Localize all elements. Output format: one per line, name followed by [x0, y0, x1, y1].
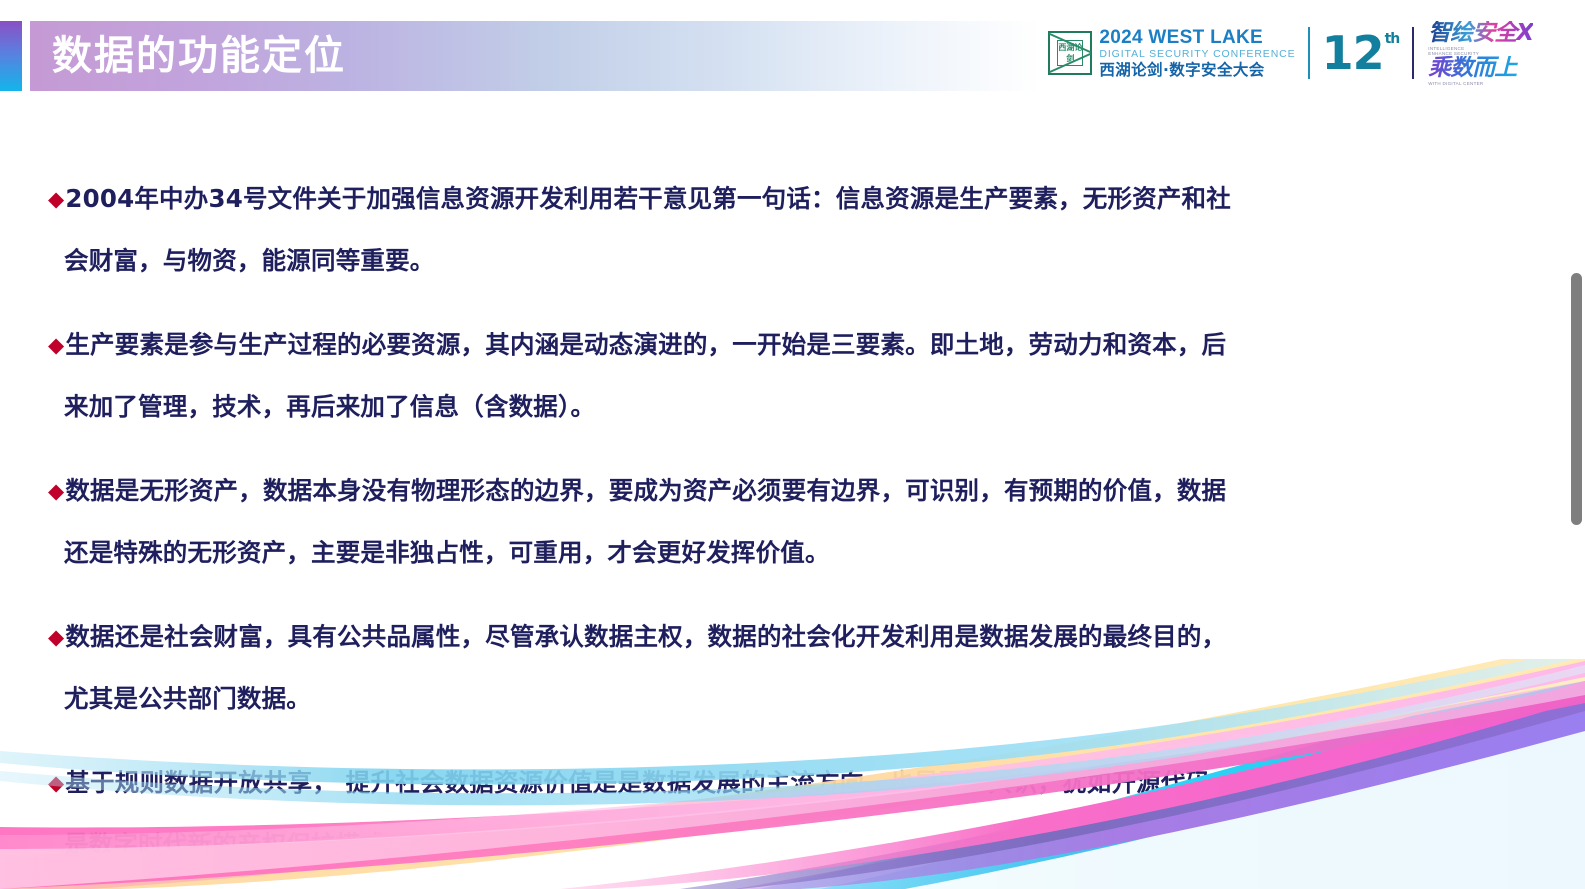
- edition-number: 12: [1322, 30, 1384, 76]
- theme-logo: 智绘安全X INTELLIGENCE ENHANCE SECURITY 乘数而上…: [1428, 21, 1533, 86]
- west-lake-wordmark: 2024 WEST LAKE DIGITAL SECURITY CONFEREN…: [1099, 28, 1295, 79]
- logo-divider-2: [1412, 27, 1414, 79]
- bullet-text-line-1: 基于规则数据开放共享， 提升社会数据资源价值是是数据发展的主流方向，也是国际共识…: [65, 752, 1235, 814]
- edition-suffix: th: [1385, 32, 1400, 46]
- diamond-bullet-icon: ◆: [48, 168, 64, 230]
- bullet-text-line-1: 数据是无形资产，数据本身没有物理形态的边界，要成为资产必须要有边界，可识别，有预…: [65, 460, 1226, 522]
- edition-badge: 12th: [1322, 30, 1399, 76]
- bullet-text-line-2: 尤其是公共部门数据。: [48, 668, 1268, 730]
- diamond-bullet-icon: ◆: [48, 314, 64, 376]
- slide-header: 数据的功能定位 西湖论剑 2024 WEST LAKE DIGITAL SECU…: [0, 0, 1585, 110]
- diamond-bullet-icon: ◆: [48, 606, 64, 668]
- bullet-text-line-2: 来加了管理，技术，再后来加了信息（含数据）。: [48, 376, 1268, 438]
- seal-inner-text: 西湖论剑: [1057, 40, 1083, 66]
- logo-line-3: 西湖论剑·数字安全大会: [1099, 61, 1295, 79]
- logo-line-2: DIGITAL SECURITY CONFERENCE: [1099, 48, 1295, 61]
- scrollbar-thumb[interactable]: [1571, 273, 1582, 525]
- bullet-first-line: ◆ 数据还是社会财富，具有公共品属性，尽管承认数据主权，数据的社会化开发利用是数…: [48, 606, 1268, 668]
- theme-sub-3: WITH DIGITAL CENTER: [1428, 81, 1533, 86]
- bullet-item-3: ◆ 数据是无形资产，数据本身没有物理形态的边界，要成为资产必须要有边界，可识别，…: [48, 460, 1268, 584]
- bullet-first-line: ◆ 2004年中办34号文件关于加强信息资源开发利用若干意见第一句话：信息资源是…: [48, 168, 1268, 230]
- bullet-text-line-2: 还是特殊的无形资产，主要是非独占性，可重用，才会更好发挥价值。: [48, 522, 1268, 584]
- bullet-item-4: ◆ 数据还是社会财富，具有公共品属性，尽管承认数据主权，数据的社会化开发利用是数…: [48, 606, 1268, 730]
- bullet-first-line: ◆ 基于规则数据开放共享， 提升社会数据资源价值是是数据发展的主流方向，也是国际…: [48, 752, 1268, 814]
- title-accent-bar: [0, 21, 22, 91]
- seal-icon: 西湖论剑: [1048, 31, 1092, 75]
- page-title: 数据的功能定位: [52, 26, 346, 86]
- west-lake-logo: 西湖论剑 2024 WEST LAKE DIGITAL SECURITY CON…: [1048, 28, 1295, 79]
- theme-line-1: 智绘安全X: [1428, 21, 1533, 46]
- bullet-list: ◆ 2004年中办34号文件关于加强信息资源开发利用若干意见第一句话：信息资源是…: [48, 168, 1268, 889]
- bullet-text-line-1: 数据还是社会财富，具有公共品属性，尽管承认数据主权，数据的社会化开发利用是数据发…: [65, 606, 1226, 668]
- bullet-text-line-1: 生产要素是参与生产过程的必要资源，其内涵是动态演进的，一开始是三要素。即土地，劳…: [65, 314, 1226, 376]
- logo-line-1: 2024 WEST LAKE: [1099, 28, 1295, 48]
- bullet-text-line-2: 是数字时代新的产权保护模式。: [48, 814, 1268, 876]
- theme-line-2: 乘数而上: [1428, 56, 1533, 81]
- diamond-bullet-icon: ◆: [48, 460, 64, 522]
- bullet-first-line: ◆ 数据是无形资产，数据本身没有物理形态的边界，要成为资产必须要有边界，可识别，…: [48, 460, 1268, 522]
- bullet-text-line-2: 会财富，与物资，能源同等重要。: [48, 230, 1268, 292]
- slide-canvas: 数据的功能定位 西湖论剑 2024 WEST LAKE DIGITAL SECU…: [0, 0, 1585, 889]
- bullet-first-line: ◆ 生产要素是参与生产过程的必要资源，其内涵是动态演进的，一开始是三要素。即土地…: [48, 314, 1268, 376]
- bullet-item-1: ◆ 2004年中办34号文件关于加强信息资源开发利用若干意见第一句话：信息资源是…: [48, 168, 1268, 292]
- vertical-scrollbar[interactable]: [1569, 3, 1585, 889]
- diamond-bullet-icon: ◆: [48, 752, 64, 814]
- bullet-item-2: ◆ 生产要素是参与生产过程的必要资源，其内涵是动态演进的，一开始是三要素。即土地…: [48, 314, 1268, 438]
- logo-divider-1: [1308, 27, 1310, 79]
- bullet-item-5: ◆ 基于规则数据开放共享， 提升社会数据资源价值是是数据发展的主流方向，也是国际…: [48, 752, 1268, 876]
- bullet-text-line-1: 2004年中办34号文件关于加强信息资源开发利用若干意见第一句话：信息资源是生产…: [65, 168, 1231, 230]
- conference-logo-lockup: 西湖论剑 2024 WEST LAKE DIGITAL SECURITY CON…: [1048, 22, 1533, 84]
